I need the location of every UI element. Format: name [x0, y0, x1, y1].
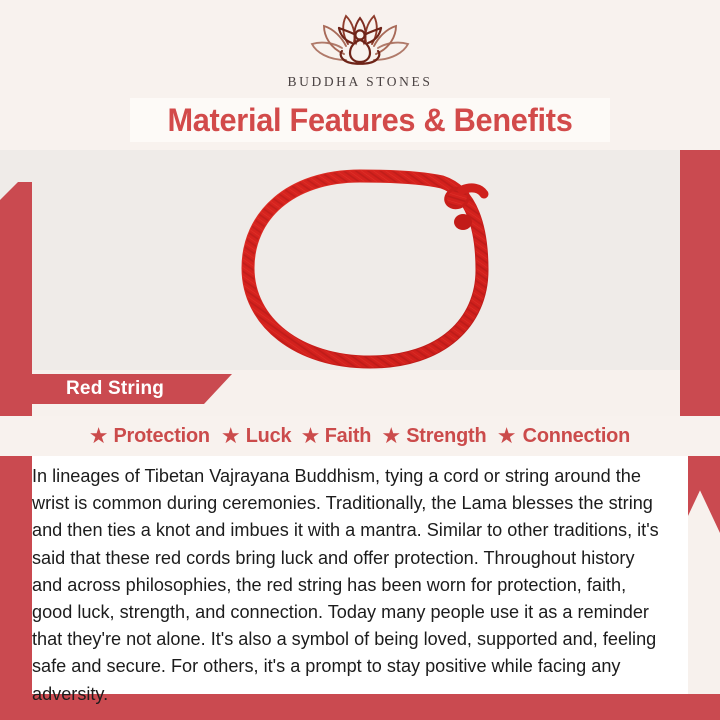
product-image-area [0, 150, 720, 370]
star-icon: ★ [89, 425, 109, 447]
benefit-item: ★ Protection [89, 424, 212, 448]
section-label-banner: Red String [32, 374, 232, 404]
star-icon: ★ [497, 425, 517, 447]
title-banner: Material Features & Benefits [130, 98, 610, 142]
star-icon: ★ [381, 425, 401, 447]
benefit-label: Strength [406, 424, 486, 448]
benefit-label: Faith [325, 424, 372, 448]
benefit-label: Luck [245, 424, 291, 448]
lotus-meditation-icon [304, 10, 416, 72]
brand-logo: BUDDHA STONES [270, 10, 450, 90]
page-title: Material Features & Benefits [167, 102, 572, 139]
benefit-label: Connection [522, 424, 629, 448]
benefits-row: ★ Protection ★ Luck ★ Faith ★ Strength ★… [0, 416, 720, 456]
description-text: In lineages of Tibetan Vajrayana Buddhis… [32, 456, 678, 707]
star-icon: ★ [301, 425, 321, 447]
benefit-item: ★ Faith [301, 424, 373, 448]
benefit-item: ★ Luck [221, 424, 292, 448]
red-string-bracelet-image [210, 150, 510, 370]
benefit-item: ★ Strength [381, 424, 487, 448]
star-icon: ★ [221, 425, 241, 447]
benefit-item: ★ Connection [497, 424, 631, 448]
benefit-label: Protection [114, 424, 210, 448]
description-panel: In lineages of Tibetan Vajrayana Buddhis… [32, 456, 688, 694]
brand-name: BUDDHA STONES [270, 74, 450, 90]
section-label-text: Red String [32, 378, 164, 400]
infographic-page: BUDDHA STONES Material Features & Benefi… [0, 0, 720, 720]
frame-left-accent-upper [0, 182, 32, 400]
header: BUDDHA STONES Material Features & Benefi… [0, 0, 720, 150]
